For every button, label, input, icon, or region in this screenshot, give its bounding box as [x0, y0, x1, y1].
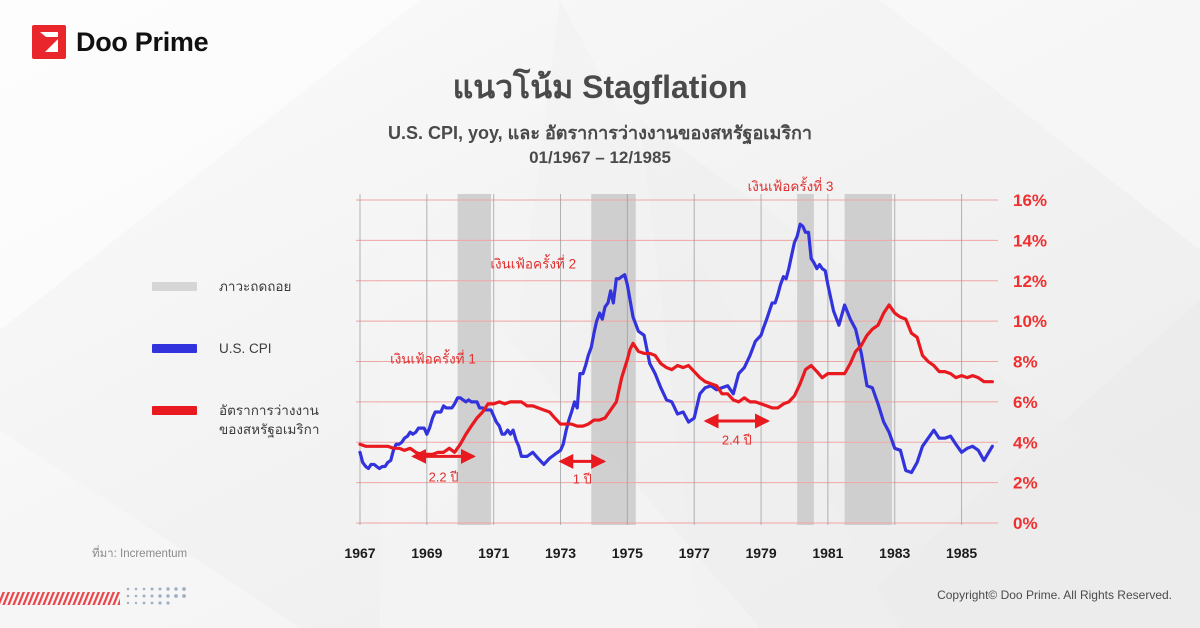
stagflation-chart: เงินเฟ้อครั้งที่ 1เงินเฟ้อครั้งที่ 2เงิน…: [0, 0, 1200, 628]
annotation-inflation-wave-1: เงินเฟ้อครั้งที่ 1: [390, 349, 476, 367]
y-axis-tick: 0%: [1013, 514, 1038, 533]
x-axis-tick: 1969: [411, 545, 442, 561]
y-axis-ticks: 0%2%4%6%8%10%12%14%16%: [1013, 191, 1047, 533]
decorative-pattern: [0, 586, 220, 608]
x-axis-tick: 1973: [545, 545, 576, 561]
recession-band: [797, 194, 814, 525]
y-axis-tick: 4%: [1013, 433, 1038, 452]
annotation-inflation-wave-2: เงินเฟ้อครั้งที่ 2: [490, 254, 576, 272]
y-axis-tick: 2%: [1013, 474, 1038, 493]
recession-bands: [458, 194, 892, 525]
x-axis-tick: 1979: [745, 545, 776, 561]
y-axis-tick: 12%: [1013, 272, 1047, 291]
x-axis-ticks: 1967196919711973197519771979198119831985: [344, 545, 977, 561]
span-arrow-label-gap-2: 1 ปี: [573, 472, 592, 487]
y-axis-tick: 8%: [1013, 353, 1038, 372]
annotation-inflation-wave-3: เงินเฟ้อครั้งที่ 3: [748, 176, 834, 194]
y-axis-tick: 6%: [1013, 393, 1038, 412]
x-axis-tick: 1971: [478, 545, 509, 561]
recession-band: [591, 194, 635, 525]
x-axis-tick: 1967: [344, 545, 375, 561]
series-lines: [360, 224, 992, 472]
series-line: [360, 224, 992, 472]
x-axis-tick: 1983: [879, 545, 910, 561]
y-axis-tick: 10%: [1013, 312, 1047, 331]
x-axis-tick: 1975: [612, 545, 643, 561]
y-axis-tick: 16%: [1013, 191, 1047, 210]
series-line: [360, 305, 992, 454]
x-axis-tick: 1981: [812, 545, 843, 561]
source-label: ที่มา: Incrementum: [92, 545, 187, 563]
x-axis-tick: 1985: [946, 545, 977, 561]
span-arrow-label-gap-1: 2.2 ปี: [429, 470, 459, 485]
x-axis-tick: 1977: [679, 545, 710, 561]
y-axis-tick: 14%: [1013, 231, 1047, 250]
poster-canvas: Doo Prime แนวโน้ม Stagflation U.S. CPI, …: [0, 0, 1200, 628]
copyright-label: Copyright© Doo Prime. All Rights Reserve…: [937, 588, 1172, 602]
span-arrow-label-gap-3: 2.4 ปี: [722, 432, 752, 447]
